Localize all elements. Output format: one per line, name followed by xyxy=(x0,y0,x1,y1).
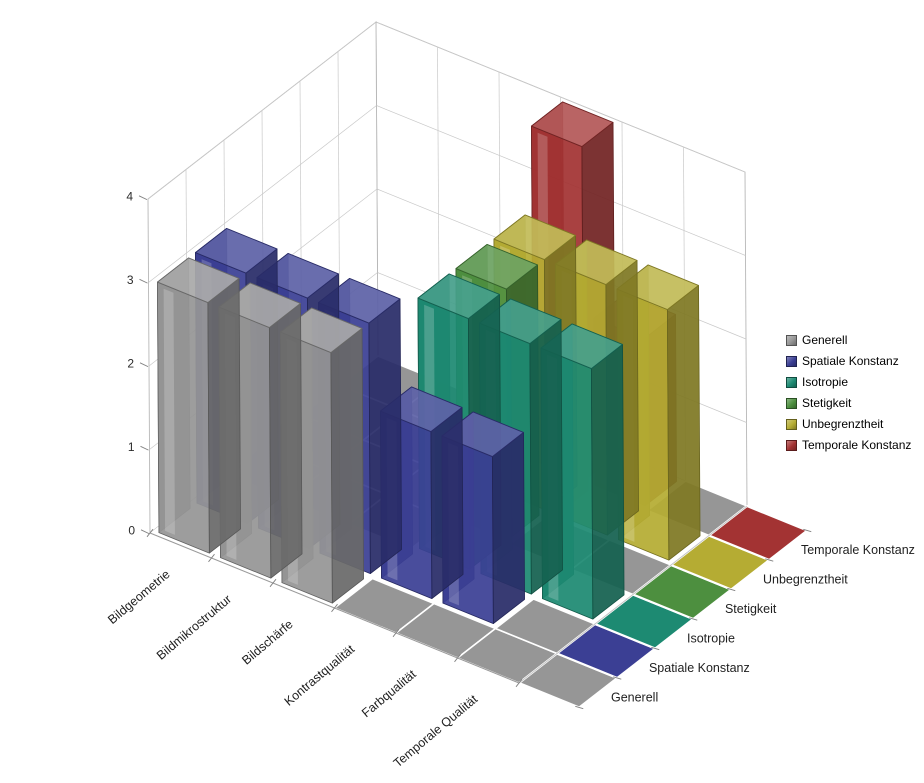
legend-swatch-icon xyxy=(786,356,797,367)
series-label-0: Generell xyxy=(611,691,658,705)
series-label-3: Stetigkeit xyxy=(725,602,777,616)
bar-face-right xyxy=(208,278,241,553)
legend-swatch-icon xyxy=(786,419,797,430)
bar-face-right xyxy=(591,344,624,619)
series-label-1: Spatiale Konstanz xyxy=(649,661,750,675)
value-axis-tick-2: 2 xyxy=(127,357,134,371)
legend-swatch-icon xyxy=(786,377,797,388)
bar-bildgeometrie-generell[interactable] xyxy=(157,258,240,553)
bar-face-right xyxy=(331,328,364,603)
legend-swatch-icon xyxy=(786,398,797,409)
legend-item-5[interactable]: Temporale Konstanz xyxy=(786,435,911,456)
series-label-4: Unbegrenztheit xyxy=(763,573,848,587)
bar-face-right xyxy=(492,432,524,623)
value-axis-tick-0: 0 xyxy=(128,524,135,538)
legend-swatch-icon xyxy=(786,335,797,346)
bar-face-right xyxy=(530,319,563,594)
legend-swatch-icon xyxy=(786,440,797,451)
bar-face-right xyxy=(431,407,463,598)
series-label-5: Temporale Konstanz xyxy=(801,543,915,557)
legend-item-0[interactable]: Generell xyxy=(786,330,911,351)
legend-item-3[interactable]: Stetigkeit xyxy=(786,393,911,414)
category-label-1: Bildmikrostruktur xyxy=(154,592,234,663)
legend: GenerellSpatiale KonstanzIsotropieStetig… xyxy=(786,330,911,456)
category-label-4: Farbqualität xyxy=(359,667,419,720)
bar-face-right xyxy=(369,299,402,574)
bar-highlight xyxy=(164,289,175,535)
value-axis-tick-3: 3 xyxy=(127,273,134,287)
legend-label: Unbegrenztheit xyxy=(802,414,883,435)
legend-item-2[interactable]: Isotropie xyxy=(786,372,911,393)
legend-label: Generell xyxy=(802,330,847,351)
value-axis-tick-4: 4 xyxy=(126,190,133,204)
category-label-0: Bildgeometrie xyxy=(105,567,173,627)
bar-face-right xyxy=(667,285,700,560)
legend-label: Temporale Konstanz xyxy=(802,435,911,456)
legend-label: Isotropie xyxy=(802,372,848,393)
bar-face-right xyxy=(269,303,302,578)
series-label-2: Isotropie xyxy=(687,632,735,646)
legend-label: Stetigkeit xyxy=(802,393,851,414)
chart-page: 01234 BildgeometrieBildmikrostrukturBild… xyxy=(0,0,924,783)
legend-item-1[interactable]: Spatiale Konstanz xyxy=(786,351,911,372)
category-label-5: Temporale Qualität xyxy=(391,692,481,771)
value-axis-tick-1: 1 xyxy=(128,440,135,454)
legend-item-4[interactable]: Unbegrenztheit xyxy=(786,414,911,435)
category-label-3: Kontrastqualität xyxy=(282,642,358,709)
legend-label: Spatiale Konstanz xyxy=(802,351,899,372)
category-label-2: Bildschärfe xyxy=(239,617,295,668)
value-axis: 01234 xyxy=(126,190,149,538)
